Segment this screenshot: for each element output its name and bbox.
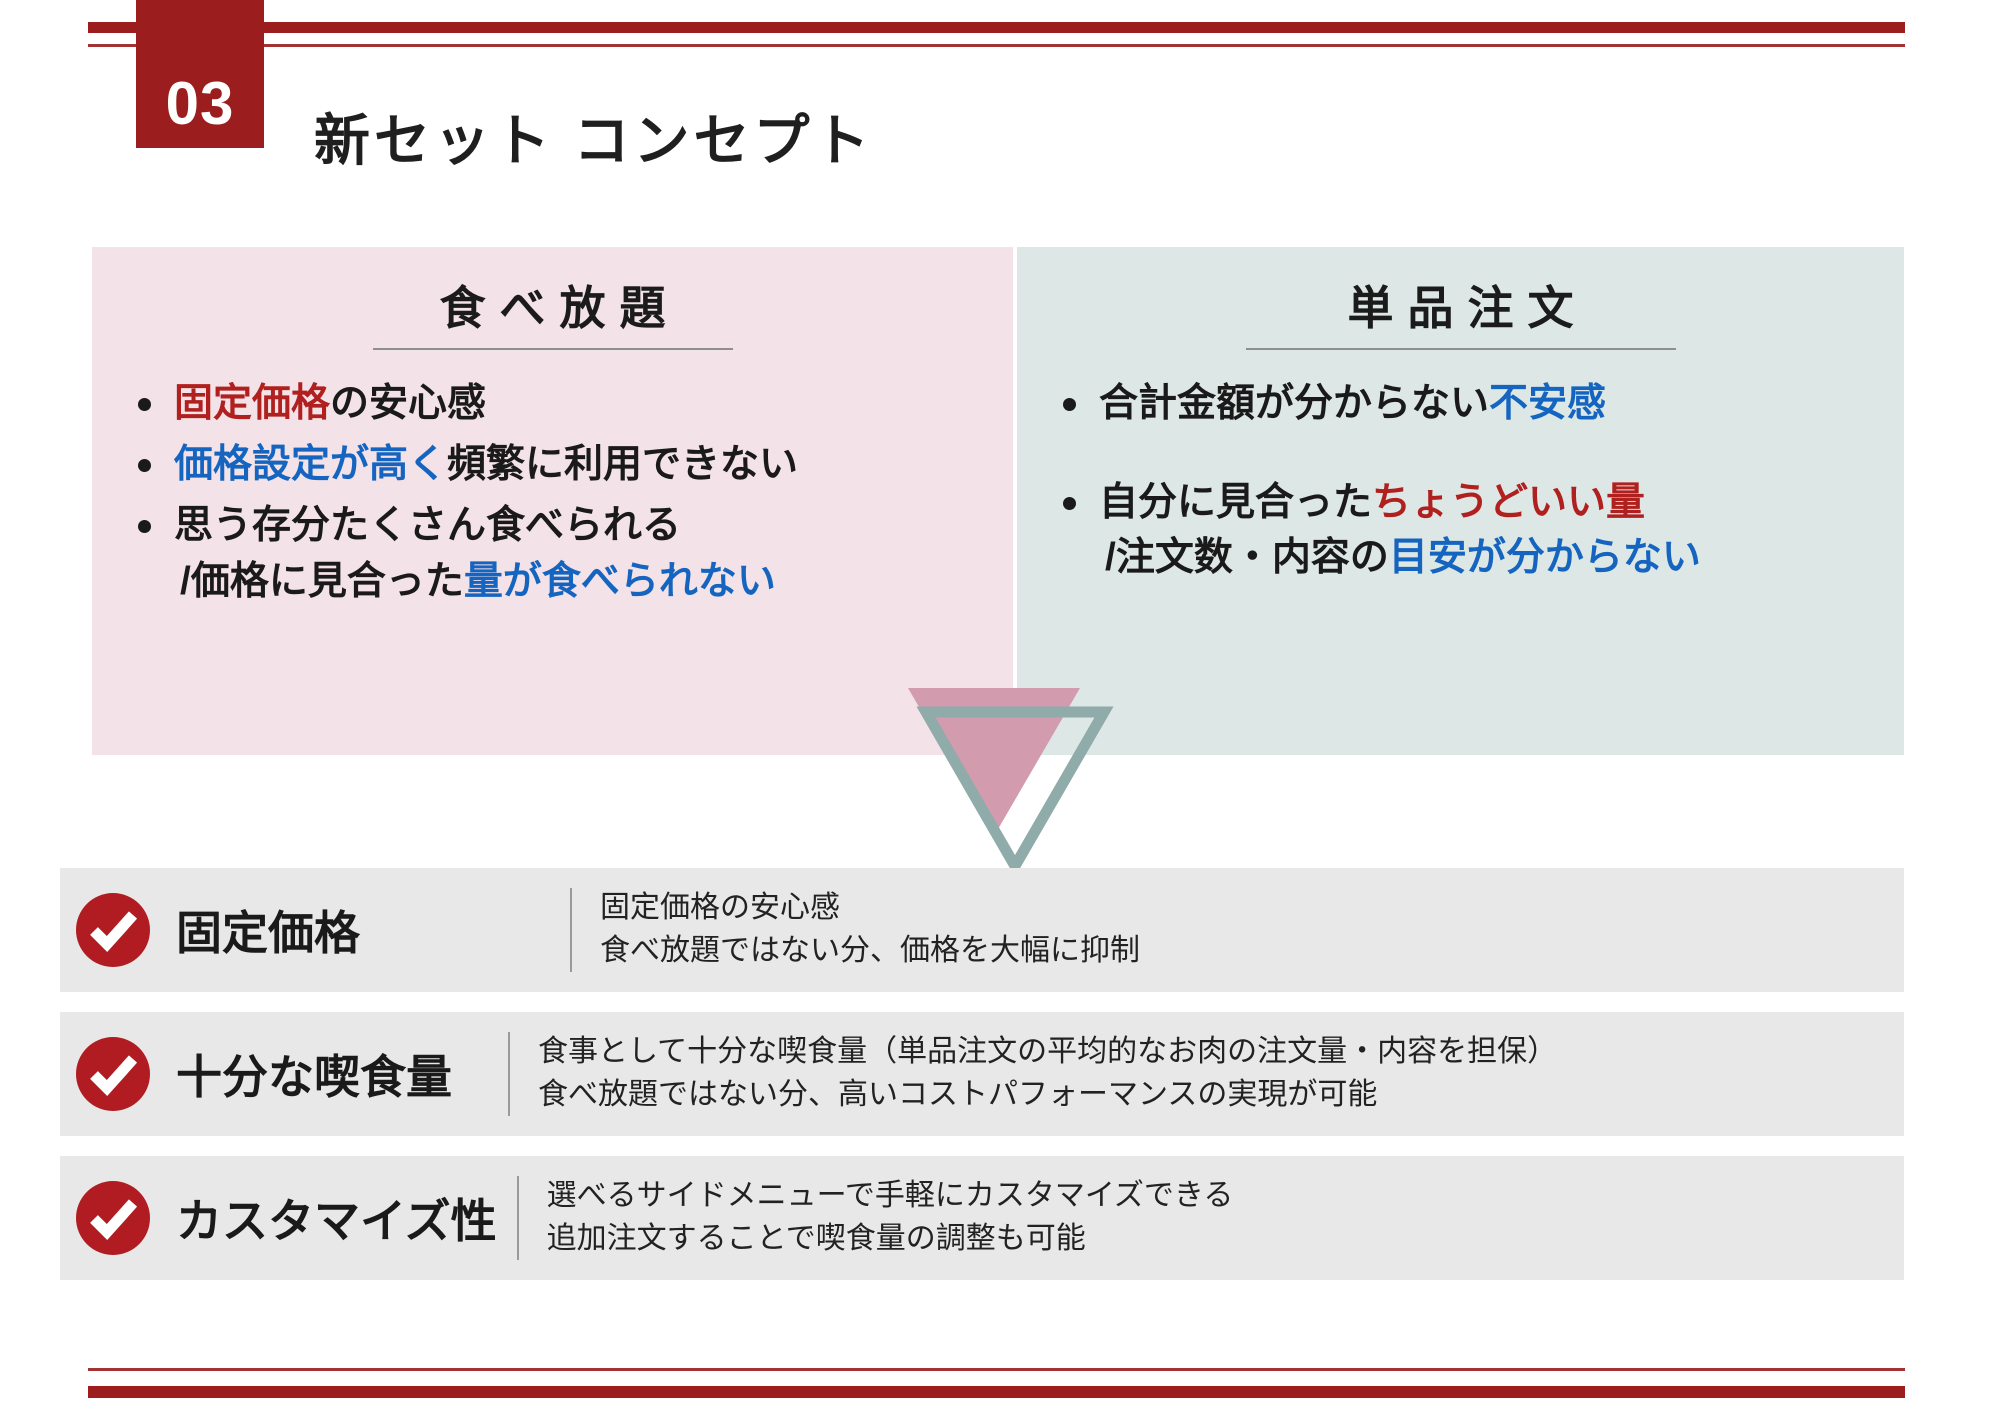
- footer-rule-thick: [88, 1386, 1905, 1398]
- feature-description-line: 食べ放題ではない分、高いコストパフォーマンスの実現が可能: [538, 1074, 1904, 1117]
- feature-description: 固定価格の安心感 食べ放題ではない分、価格を大幅に抑制: [600, 887, 1904, 972]
- feature-description: 選べるサイドメニューで手軽にカスタマイズできる 追加注文することで喫食量の調整も…: [547, 1175, 1904, 1260]
- bullet-continuation-line: /注文数・内容の目安が分からない: [1099, 530, 1874, 585]
- check-circle-icon: [74, 1179, 152, 1257]
- page-title: 新セット コンセプト: [314, 96, 874, 177]
- list-item: 思う存分たくさん食べられる /価格に見合った量が食べられない: [122, 498, 983, 609]
- feature-divider: [517, 1176, 519, 1260]
- down-triangle-outline-icon: [890, 680, 1140, 880]
- check-circle-icon: [74, 891, 152, 969]
- bullet-text-part: 頻繁に利用できない: [447, 443, 798, 486]
- feature-description-line: 食べ放題ではない分、価格を大幅に抑制: [600, 930, 1904, 973]
- panel-right-heading: 単品注文: [1047, 283, 1874, 334]
- bullet-text-part: 目安が分からない: [1389, 536, 1701, 579]
- feature-title: カスタマイズ性: [176, 1185, 497, 1251]
- footer-rule-thin: [88, 1368, 1905, 1371]
- feature-description: 食事として十分な喫食量（単品注文の平均的なお肉の注文量・内容を担保） 食べ放題で…: [538, 1031, 1904, 1116]
- panel-a-la-carte: 単品注文 合計金額が分からない不安感 自分に見合ったちょうどいい量 /注文数・内…: [1017, 247, 1904, 755]
- list-item: 自分に見合ったちょうどいい量 /注文数・内容の目安が分からない: [1047, 475, 1874, 586]
- panel-all-you-can-eat: 食べ放題 固定価格の安心感 価格設定が高く頻繁に利用できない 思う存分たくさん食…: [92, 247, 1013, 755]
- bullet-text-part: /価格に見合った: [180, 560, 464, 603]
- bullet-text-part: 思う存分たくさん食べられる: [174, 504, 681, 547]
- feature-description-line: 食事として十分な喫食量（単品注文の平均的なお肉の注文量・内容を担保）: [538, 1031, 1904, 1074]
- panel-left-underline: [373, 348, 733, 350]
- bullet-text-part: 不安感: [1489, 382, 1606, 425]
- bullet-text-part: 価格設定が高く: [174, 443, 447, 486]
- list-item: 価格設定が高く頻繁に利用できない: [122, 437, 983, 492]
- footer-rules: [0, 1330, 2000, 1414]
- bullet-text-part: 固定価格: [174, 382, 330, 425]
- feature-divider: [570, 888, 572, 972]
- panel-left-heading: 食べ放題: [122, 283, 983, 334]
- bullet-text-part: の安心感: [330, 382, 486, 425]
- panel-right-underline: [1246, 348, 1676, 350]
- bullet-text-part: 量が食べられない: [464, 560, 776, 603]
- header-rules: [0, 0, 2000, 160]
- section-number: 03: [166, 74, 235, 134]
- feature-row: 固定価格 固定価格の安心感 食べ放題ではない分、価格を大幅に抑制: [60, 868, 1904, 992]
- panel-left-bullet-list: 固定価格の安心感 価格設定が高く頻繁に利用できない 思う存分たくさん食べられる …: [122, 376, 983, 610]
- bullet-continuation-line: /価格に見合った量が食べられない: [174, 554, 983, 609]
- feature-description-line: 固定価格の安心感: [600, 887, 1904, 930]
- feature-description-line: 選べるサイドメニューで手軽にカスタマイズできる: [547, 1175, 1904, 1218]
- check-circle-icon: [74, 1035, 152, 1113]
- feature-row: カスタマイズ性 選べるサイドメニューで手軽にカスタマイズできる 追加注文すること…: [60, 1156, 1904, 1280]
- bullet-text-part: ちょうどいい量: [1372, 481, 1645, 524]
- bullet-text-part: 合計金額が分からない: [1099, 382, 1489, 425]
- feature-description-line: 追加注文することで喫食量の調整も可能: [547, 1218, 1904, 1261]
- feature-title: 十分な喫食量: [176, 1041, 452, 1107]
- feature-divider: [508, 1032, 510, 1116]
- header-rule-thin: [88, 44, 1905, 47]
- feature-title: 固定価格: [176, 897, 360, 963]
- down-arrow-group: [890, 680, 1140, 880]
- feature-row: 十分な喫食量 食事として十分な喫食量（単品注文の平均的なお肉の注文量・内容を担保…: [60, 1012, 1904, 1136]
- header-rule-thick: [88, 22, 1905, 33]
- list-item: 合計金額が分からない不安感: [1047, 376, 1874, 431]
- section-number-bar: 03: [136, 0, 264, 148]
- bullet-text-part: /注文数・内容の: [1105, 536, 1389, 579]
- list-item: 固定価格の安心感: [122, 376, 983, 431]
- bullet-text-part: 自分に見合った: [1099, 481, 1372, 524]
- comparison-panels: 食べ放題 固定価格の安心感 価格設定が高く頻繁に利用できない 思う存分たくさん食…: [92, 247, 1904, 755]
- panel-right-bullet-list: 合計金額が分からない不安感 自分に見合ったちょうどいい量 /注文数・内容の目安が…: [1047, 376, 1874, 586]
